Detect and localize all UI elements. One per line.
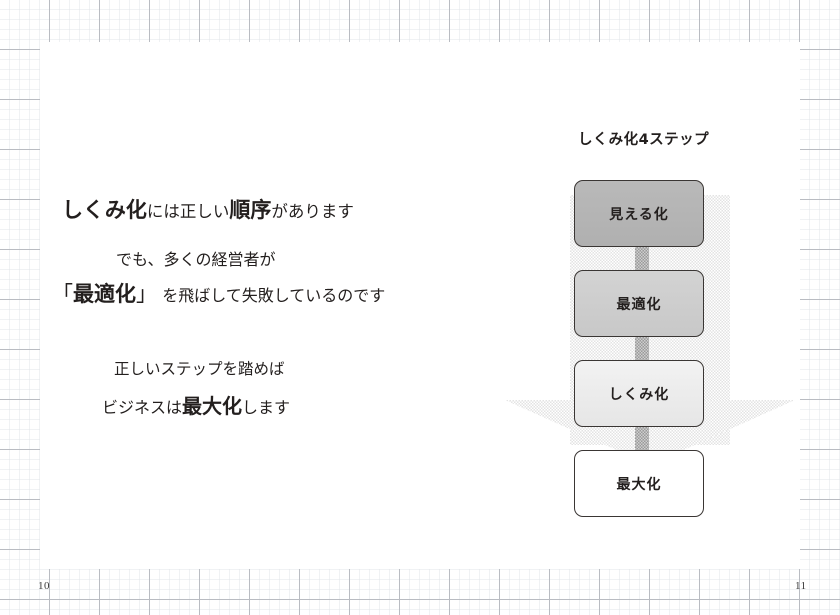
step-box-saitekika[interactable]: 最適化 xyxy=(574,270,704,337)
headline-text-niwa: には正しい xyxy=(147,202,230,221)
body-text-shimasu: します xyxy=(242,398,290,417)
body-line-5: ビジネスは最大化します xyxy=(102,390,290,419)
headline-emphasis-junjo: 順序 xyxy=(229,198,271,222)
step-box-shikumika[interactable]: しくみ化 xyxy=(574,360,704,427)
body-line-2: でも、多くの経営者が xyxy=(116,246,276,270)
body-line-4: 正しいステップを踏めば xyxy=(114,357,285,379)
bracket-close: 」 xyxy=(136,282,157,306)
body-text-tobashite: を飛ばして失敗しているのです xyxy=(162,286,385,305)
headline-emphasis-shikumika: しくみ化 xyxy=(62,198,147,222)
body-text-business: ビジネスは xyxy=(102,398,182,417)
step-box-mieruka[interactable]: 見える化 xyxy=(574,180,704,247)
four-step-diagram: しくみ化4ステップ 見える化 最適化 しくみ化 最大化 xyxy=(500,110,800,540)
page-number-right: 11 xyxy=(795,580,807,592)
diagram-title: しくみ化4ステップ xyxy=(578,128,709,149)
body-line-3: 「最適化」 を飛ばして失敗しているのです xyxy=(52,278,385,308)
page-number-left: 10 xyxy=(38,580,50,592)
headline-text-arimasu: があります xyxy=(271,202,354,221)
body-emphasis-saitekika: 最適化 xyxy=(73,282,136,306)
bracket-open: 「 xyxy=(52,282,73,306)
body-emphasis-saidaika: 最大化 xyxy=(182,394,242,418)
headline-line-1: しくみ化には正しい順序があります xyxy=(62,194,354,224)
step-box-saidaika[interactable]: 最大化 xyxy=(574,450,704,517)
